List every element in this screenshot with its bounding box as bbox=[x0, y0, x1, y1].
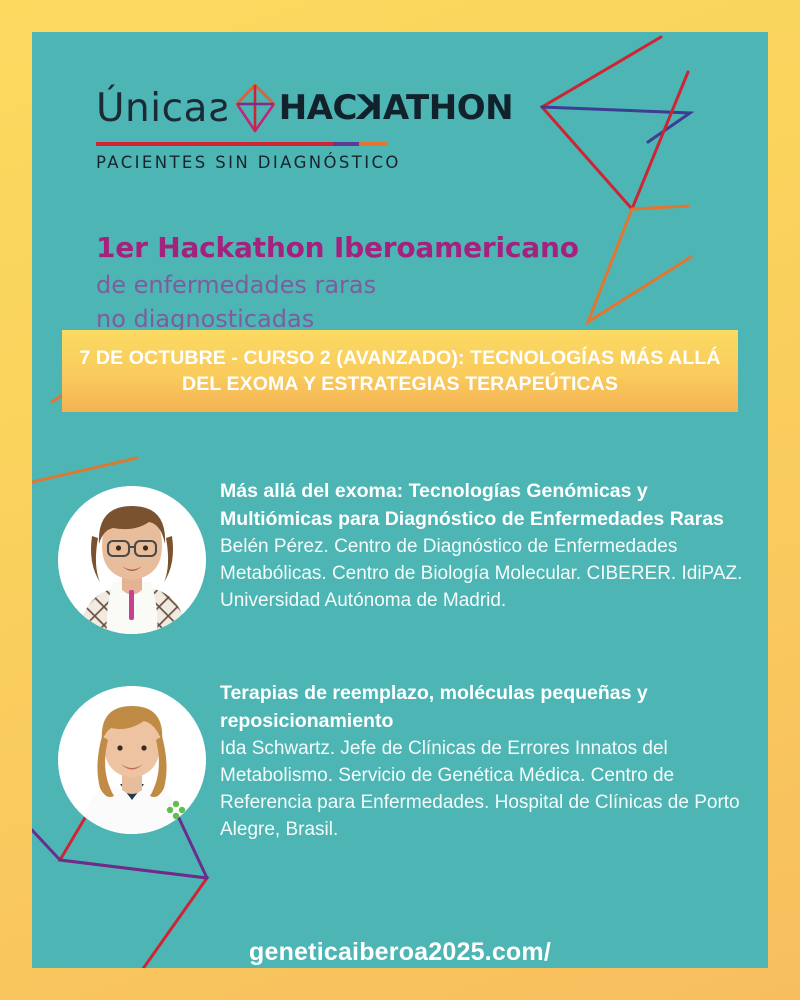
poster-root: Únicas HACKATHON PACIENTES SIN DIAGNÓSTI… bbox=[0, 0, 800, 1000]
logo-unicas-text: Únicas bbox=[96, 89, 229, 128]
speaker-affiliation: Belén Pérez. Centro de Diagnóstico de En… bbox=[220, 534, 764, 615]
event-subtitle: de enfermedades raras no diagnosticadas bbox=[96, 268, 656, 336]
speaker-photo-belen-perez bbox=[58, 486, 206, 634]
session-banner-text: 7 DE OCTUBRE - CURSO 2 (AVANZADO): TECNO… bbox=[76, 345, 724, 398]
speaker-talk-title: Más allá del exoma: Tecnologías Genómica… bbox=[220, 478, 764, 533]
speakers-list: Más allá del exoma: Tecnologías Genómica… bbox=[58, 444, 764, 844]
speaker-text-block: Más allá del exoma: Tecnologías Genómica… bbox=[206, 444, 764, 615]
brand-logo: Únicas HACKATHON PACIENTES SIN DIAGNÓSTI… bbox=[96, 80, 516, 172]
logo-wordmark-row: Únicas HACKATHON bbox=[96, 80, 516, 136]
logo-tagline: PACIENTES SIN DIAGNÓSTICO bbox=[96, 153, 516, 172]
speaker-photo-ida-schwartz bbox=[58, 686, 206, 834]
rule-segment-orange bbox=[359, 142, 388, 146]
session-banner: 7 DE OCTUBRE - CURSO 2 (AVANZADO): TECNO… bbox=[62, 330, 738, 412]
rule-segment-red bbox=[96, 142, 333, 146]
speaker-entry: Terapias de reemplazo, moléculas pequeña… bbox=[58, 658, 764, 844]
website-url[interactable]: geneticaiberoa2025.com/ bbox=[249, 938, 551, 966]
logo-hackathon-text: HACKATHON bbox=[279, 91, 513, 125]
teal-panel: Únicas HACKATHON PACIENTES SIN DIAGNÓSTI… bbox=[32, 32, 768, 968]
reversed-k-glyph: K bbox=[357, 91, 383, 125]
rule-segment-purple bbox=[333, 142, 359, 146]
speaker-text-block: Terapias de reemplazo, moléculas pequeña… bbox=[206, 658, 764, 844]
event-title: 1er Hackathon Iberoamericano bbox=[96, 232, 656, 264]
footer: geneticaiberoa2025.com/ bbox=[32, 938, 768, 967]
logo-underline-rule bbox=[96, 142, 388, 146]
event-heading-block: 1er Hackathon Iberoamericano de enfermed… bbox=[96, 232, 656, 336]
reversed-s-glyph: s bbox=[208, 89, 229, 128]
event-subtitle-line-1: de enfermedades raras bbox=[96, 268, 656, 302]
speaker-affiliation: Ida Schwartz. Jefe de Clínicas de Errore… bbox=[220, 736, 764, 844]
speaker-talk-title: Terapias de reemplazo, moléculas pequeña… bbox=[220, 680, 764, 735]
speaker-entry: Más allá del exoma: Tecnologías Genómica… bbox=[58, 444, 764, 634]
diamond-star-icon bbox=[232, 82, 278, 134]
